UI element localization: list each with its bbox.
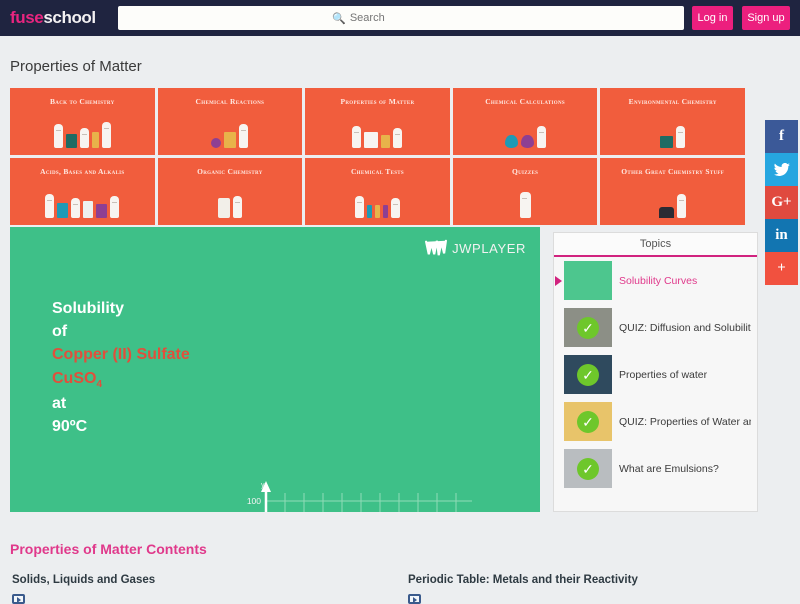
- tile-back-to-chemistry[interactable]: Back to Chemistry: [10, 88, 155, 155]
- site-logo[interactable]: fuseschool: [10, 8, 96, 28]
- login-button[interactable]: Log in: [692, 6, 733, 30]
- svg-text:100: 100: [247, 496, 261, 506]
- topic-thumbnail: ✓: [564, 402, 612, 441]
- tile-artwork-icon: [453, 184, 598, 218]
- tile-quizzes[interactable]: Quizzes: [453, 158, 598, 225]
- tile-label: Other Great Chemistry Stuff: [600, 168, 745, 176]
- google-plus-icon[interactable]: G+: [765, 186, 798, 219]
- signup-button[interactable]: Sign up: [742, 6, 790, 30]
- search-icon: 🔍: [332, 12, 346, 25]
- topic-thumbnail: ✓: [564, 308, 612, 347]
- contents-section-title: Properties of Matter Contents: [10, 541, 207, 557]
- logo-fuse-text: fuse: [10, 8, 43, 27]
- tile-label: Organic Chemistry: [158, 168, 303, 176]
- topic-label: Properties of water: [619, 369, 707, 381]
- video-title-line-3: Copper (II) Sulfate: [52, 343, 190, 366]
- topic-thumbnail: ✓: [564, 355, 612, 394]
- tile-artwork-icon: [305, 114, 450, 148]
- topic-item-properties-of-water[interactable]: ✓ Properties of water: [554, 351, 757, 398]
- solubility-curve-chart: y x 1009080 706050 403020 100 01020 3040…: [228, 475, 490, 512]
- completed-check-icon: ✓: [577, 411, 599, 433]
- tile-acids-bases-and-alkalis[interactable]: Acids, Bases and Alkalis: [10, 158, 155, 225]
- tile-artwork-icon: [158, 114, 303, 148]
- video-title-line-4: CuSO4: [52, 367, 190, 393]
- topic-thumbnail: [564, 261, 612, 300]
- video-title-line-1: Solubility: [52, 297, 190, 320]
- svg-text:y: y: [261, 482, 265, 489]
- tile-label: Chemical Calculations: [453, 98, 598, 106]
- topic-label: QUIZ: Properties of Water an: [619, 416, 751, 428]
- tile-artwork-icon: [305, 184, 450, 218]
- tile-artwork-icon: [453, 114, 598, 148]
- video-icon: [408, 594, 421, 604]
- video-title-line-2: of: [52, 320, 190, 343]
- video-title-line-6: 90ºC: [52, 415, 190, 438]
- video-icon: [12, 594, 25, 604]
- tile-chemical-reactions[interactable]: Chemical Reactions: [158, 88, 303, 155]
- logo-school-text: school: [43, 8, 95, 27]
- topic-thumbnail: ✓: [564, 449, 612, 488]
- topic-label: Solubility Curves: [619, 275, 697, 287]
- tile-label: Properties of Matter: [305, 98, 450, 106]
- social-share-rail: f G+ in +: [765, 120, 798, 285]
- contents-column-heading-left: Solids, Liquids and Gases: [12, 574, 155, 586]
- jwplayer-logo: JWPLAYER: [425, 239, 526, 257]
- topic-item-quiz-properties-of-water[interactable]: ✓ QUIZ: Properties of Water an: [554, 398, 757, 445]
- category-tile-grid: Back to Chemistry Chemical Reactions Pro…: [10, 88, 745, 225]
- tile-artwork-icon: [10, 114, 155, 148]
- tile-label: Chemical Reactions: [158, 98, 303, 106]
- search-input[interactable]: [350, 12, 470, 24]
- current-topic-caret-icon: [555, 276, 562, 286]
- video-title-line-5: at: [52, 392, 190, 415]
- completed-check-icon: ✓: [577, 458, 599, 480]
- jwplayer-label: JWPLAYER: [452, 241, 526, 256]
- contents-list-item-left[interactable]: [12, 594, 31, 604]
- tile-artwork-icon: [600, 184, 745, 218]
- completed-check-icon: ✓: [577, 317, 599, 339]
- facebook-icon[interactable]: f: [765, 120, 798, 153]
- topic-item-what-are-emulsions[interactable]: ✓ What are Emulsions?: [554, 445, 757, 492]
- twitter-icon[interactable]: [765, 153, 798, 186]
- tile-label: Back to Chemistry: [10, 98, 155, 106]
- video-title-overlay: Solubility of Copper (II) Sulfate CuSO4 …: [52, 297, 190, 439]
- tile-organic-chemistry[interactable]: Organic Chemistry: [158, 158, 303, 225]
- topics-panel: Topics Solubility Curves ✓ QUIZ: Diffusi…: [553, 232, 758, 512]
- search-box[interactable]: 🔍: [118, 6, 684, 30]
- linkedin-icon[interactable]: in: [765, 219, 798, 252]
- topic-label: QUIZ: Diffusion and Solubility: [619, 322, 751, 334]
- topic-label: What are Emulsions?: [619, 463, 719, 475]
- tile-artwork-icon: [158, 184, 303, 218]
- tile-environmental-chemistry[interactable]: Environmental Chemistry: [600, 88, 745, 155]
- tile-label: Environmental Chemistry: [600, 98, 745, 106]
- tile-label: Acids, Bases and Alkalis: [10, 168, 155, 176]
- completed-check-icon: ✓: [577, 364, 599, 386]
- page-title: Properties of Matter: [10, 58, 142, 75]
- share-more-icon[interactable]: +: [765, 252, 798, 285]
- tile-other-great-chemistry-stuff[interactable]: Other Great Chemistry Stuff: [600, 158, 745, 225]
- top-navigation-bar: fuseschool 🔍 Log in Sign up: [0, 0, 800, 36]
- contents-column-heading-right: Periodic Table: Metals and their Reactiv…: [408, 574, 638, 586]
- topic-item-solubility-curves[interactable]: Solubility Curves: [554, 257, 757, 304]
- video-player[interactable]: JWPLAYER Solubility of Copper (II) Sulfa…: [10, 227, 540, 512]
- tile-chemical-tests[interactable]: Chemical Tests: [305, 158, 450, 225]
- tile-label: Quizzes: [453, 168, 598, 176]
- topics-header: Topics: [554, 233, 757, 257]
- topic-item-quiz-diffusion-and-solubility[interactable]: ✓ QUIZ: Diffusion and Solubility: [554, 304, 757, 351]
- tile-artwork-icon: [600, 114, 745, 148]
- tile-chemical-calculations[interactable]: Chemical Calculations: [453, 88, 598, 155]
- tile-artwork-icon: [10, 184, 155, 218]
- tile-properties-of-matter[interactable]: Properties of Matter: [305, 88, 450, 155]
- contents-list-item-right[interactable]: [408, 594, 427, 604]
- tile-label: Chemical Tests: [305, 168, 450, 176]
